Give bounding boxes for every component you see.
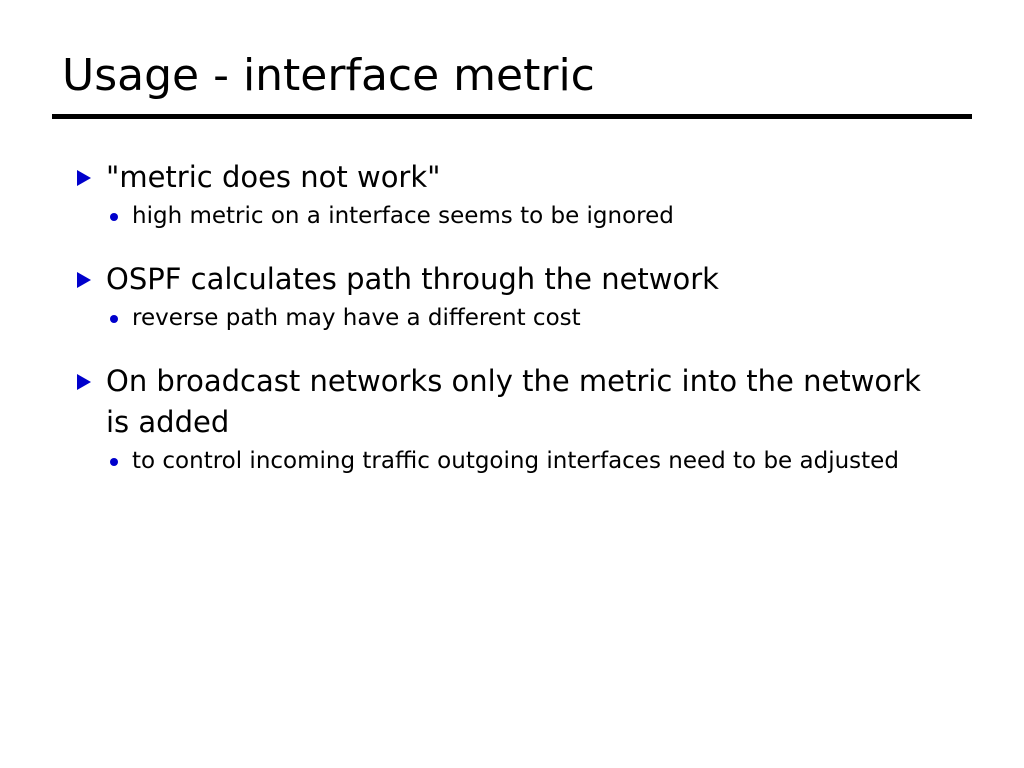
list-item-level2-label: to control incoming traffic outgoing int… (132, 445, 964, 478)
triangle-right-icon (77, 272, 91, 288)
dot-icon (110, 315, 118, 323)
list-item-level2: high metric on a interface seems to be i… (64, 200, 964, 233)
list-item-level1-label: "metric does not work" (106, 160, 441, 194)
dot-icon (110, 213, 118, 221)
bullet-group: OSPF calculates path through the network… (64, 259, 964, 335)
list-item-level1: On broadcast networks only the metric in… (64, 361, 926, 443)
list-item-level2-label: high metric on a interface seems to be i… (132, 200, 964, 233)
dot-icon (110, 458, 118, 466)
bullet-list: "metric does not work" high metric on a … (64, 157, 964, 478)
list-item-level1-label: OSPF calculates path through the network (106, 262, 719, 296)
page-title: Usage - interface metric (62, 54, 595, 98)
list-item-level2-label: reverse path may have a different cost (132, 302, 964, 335)
list-item-level2: to control incoming traffic outgoing int… (64, 445, 964, 478)
bullet-group: "metric does not work" high metric on a … (64, 157, 964, 233)
list-item-level2: reverse path may have a different cost (64, 302, 964, 335)
list-item-level1: "metric does not work" (64, 157, 926, 198)
list-item-level1-label: On broadcast networks only the metric in… (106, 364, 921, 439)
title-divider (52, 114, 972, 119)
list-item-level1: OSPF calculates path through the network (64, 259, 926, 300)
bullet-group: On broadcast networks only the metric in… (64, 361, 964, 478)
slide: Usage - interface metric "metric does no… (0, 0, 1024, 768)
triangle-right-icon (77, 170, 91, 186)
triangle-right-icon (77, 374, 91, 390)
